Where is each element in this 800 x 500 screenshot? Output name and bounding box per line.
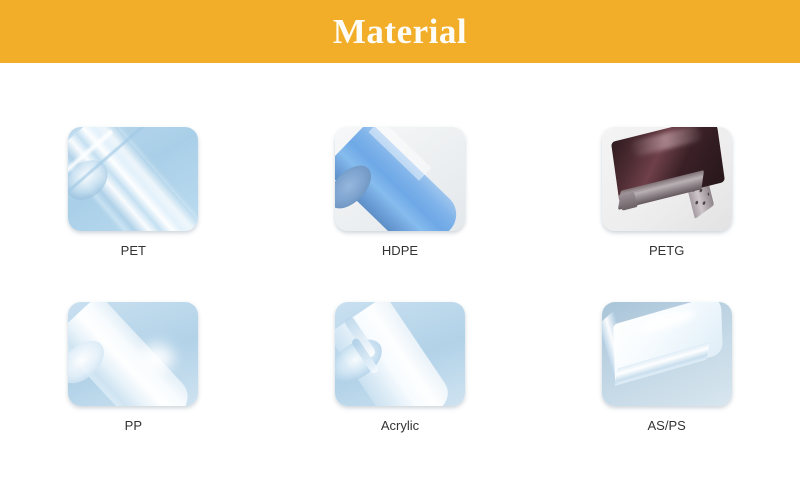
page-header: Material: [0, 0, 800, 63]
pp-roll-icon[interactable]: [68, 302, 198, 406]
material-grid: PET HDPE PETG: [0, 63, 800, 500]
material-card-pp[interactable]: PP: [0, 302, 267, 477]
material-card-pet[interactable]: PET: [0, 127, 267, 302]
material-label-petg: PETG: [649, 243, 684, 258]
material-card-hdpe[interactable]: HDPE: [267, 127, 534, 302]
material-label-acrylic: Acrylic: [381, 418, 419, 433]
pet-film-roll-icon[interactable]: [68, 127, 198, 231]
acrylic-sheet-roll-icon[interactable]: [335, 302, 465, 406]
material-card-petg[interactable]: PETG: [533, 127, 800, 302]
petg-sheet-icon[interactable]: [602, 127, 732, 231]
material-card-asps[interactable]: AS/PS: [533, 302, 800, 477]
material-label-pp: PP: [125, 418, 142, 433]
page-title: Material: [333, 14, 467, 49]
material-card-acrylic[interactable]: Acrylic: [267, 302, 534, 477]
hdpe-roll-icon[interactable]: [335, 127, 465, 231]
material-label-asps: AS/PS: [648, 418, 686, 433]
material-label-hdpe: HDPE: [382, 243, 418, 258]
asps-sheet-icon[interactable]: [602, 302, 732, 406]
material-page: Material PET HDPE: [0, 0, 800, 500]
material-label-pet: PET: [121, 243, 146, 258]
